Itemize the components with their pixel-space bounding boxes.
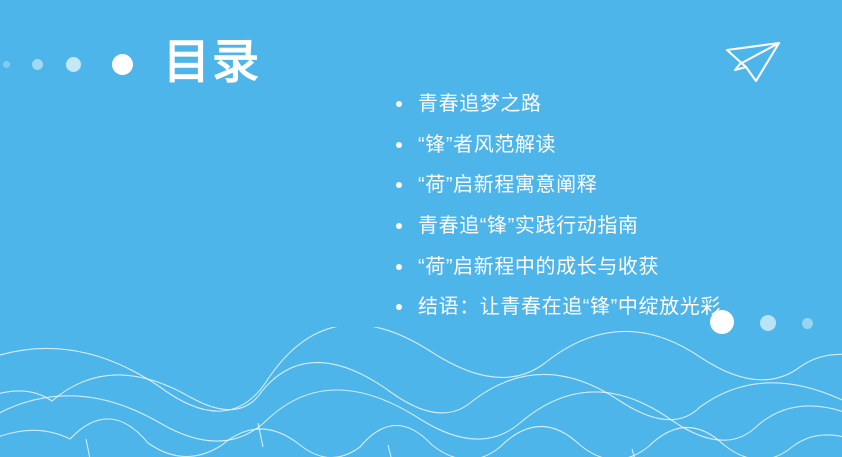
toc-item-label: “荷”启新程寓意阐释	[418, 175, 597, 195]
decorative-dot-3	[66, 57, 81, 72]
bullet-icon	[396, 264, 402, 270]
bullet-icon	[396, 182, 402, 188]
toc-item-label: 青春追“锋”实践行动指南	[418, 216, 639, 236]
decorative-dot-1	[3, 61, 10, 68]
toc-item-label: “锋”者风范解读	[418, 135, 556, 155]
toc-item-label: “荷”启新程中的成长与收获	[418, 257, 659, 277]
list-item[interactable]: 青春追“锋”实践行动指南	[396, 206, 721, 247]
list-item[interactable]: 青春追梦之路	[396, 84, 721, 125]
cloud-arc-pattern	[0, 327, 842, 457]
page-title: 目录	[163, 36, 261, 89]
list-item[interactable]: “荷”启新程寓意阐释	[396, 165, 721, 206]
decorative-dot-2	[32, 59, 43, 70]
bullet-icon	[396, 101, 402, 107]
list-item[interactable]: “锋”者风范解读	[396, 125, 721, 166]
paper-plane-icon	[722, 34, 784, 86]
toc-item-label: 结语：让青春在追“锋”中绽放光彩	[418, 297, 721, 317]
footer-dot-1	[710, 310, 734, 334]
bullet-icon	[396, 223, 402, 229]
decorative-dot-4	[112, 54, 133, 75]
toc-item-label: 青春追梦之路	[418, 94, 542, 114]
list-item[interactable]: “荷”启新程中的成长与收获	[396, 246, 721, 287]
bullet-icon	[396, 304, 402, 310]
slide-canvas: 目录 青春追梦之路 “锋”者风范解读 “荷”启新程寓意阐释 青春追“锋”实践行动…	[0, 0, 842, 457]
list-item[interactable]: 结语：让青春在追“锋”中绽放光彩	[396, 287, 721, 328]
footer-dot-2	[760, 315, 776, 331]
footer-dot-3	[802, 318, 813, 329]
bullet-icon	[396, 142, 402, 148]
toc-list: 青春追梦之路 “锋”者风范解读 “荷”启新程寓意阐释 青春追“锋”实践行动指南 …	[396, 84, 721, 328]
